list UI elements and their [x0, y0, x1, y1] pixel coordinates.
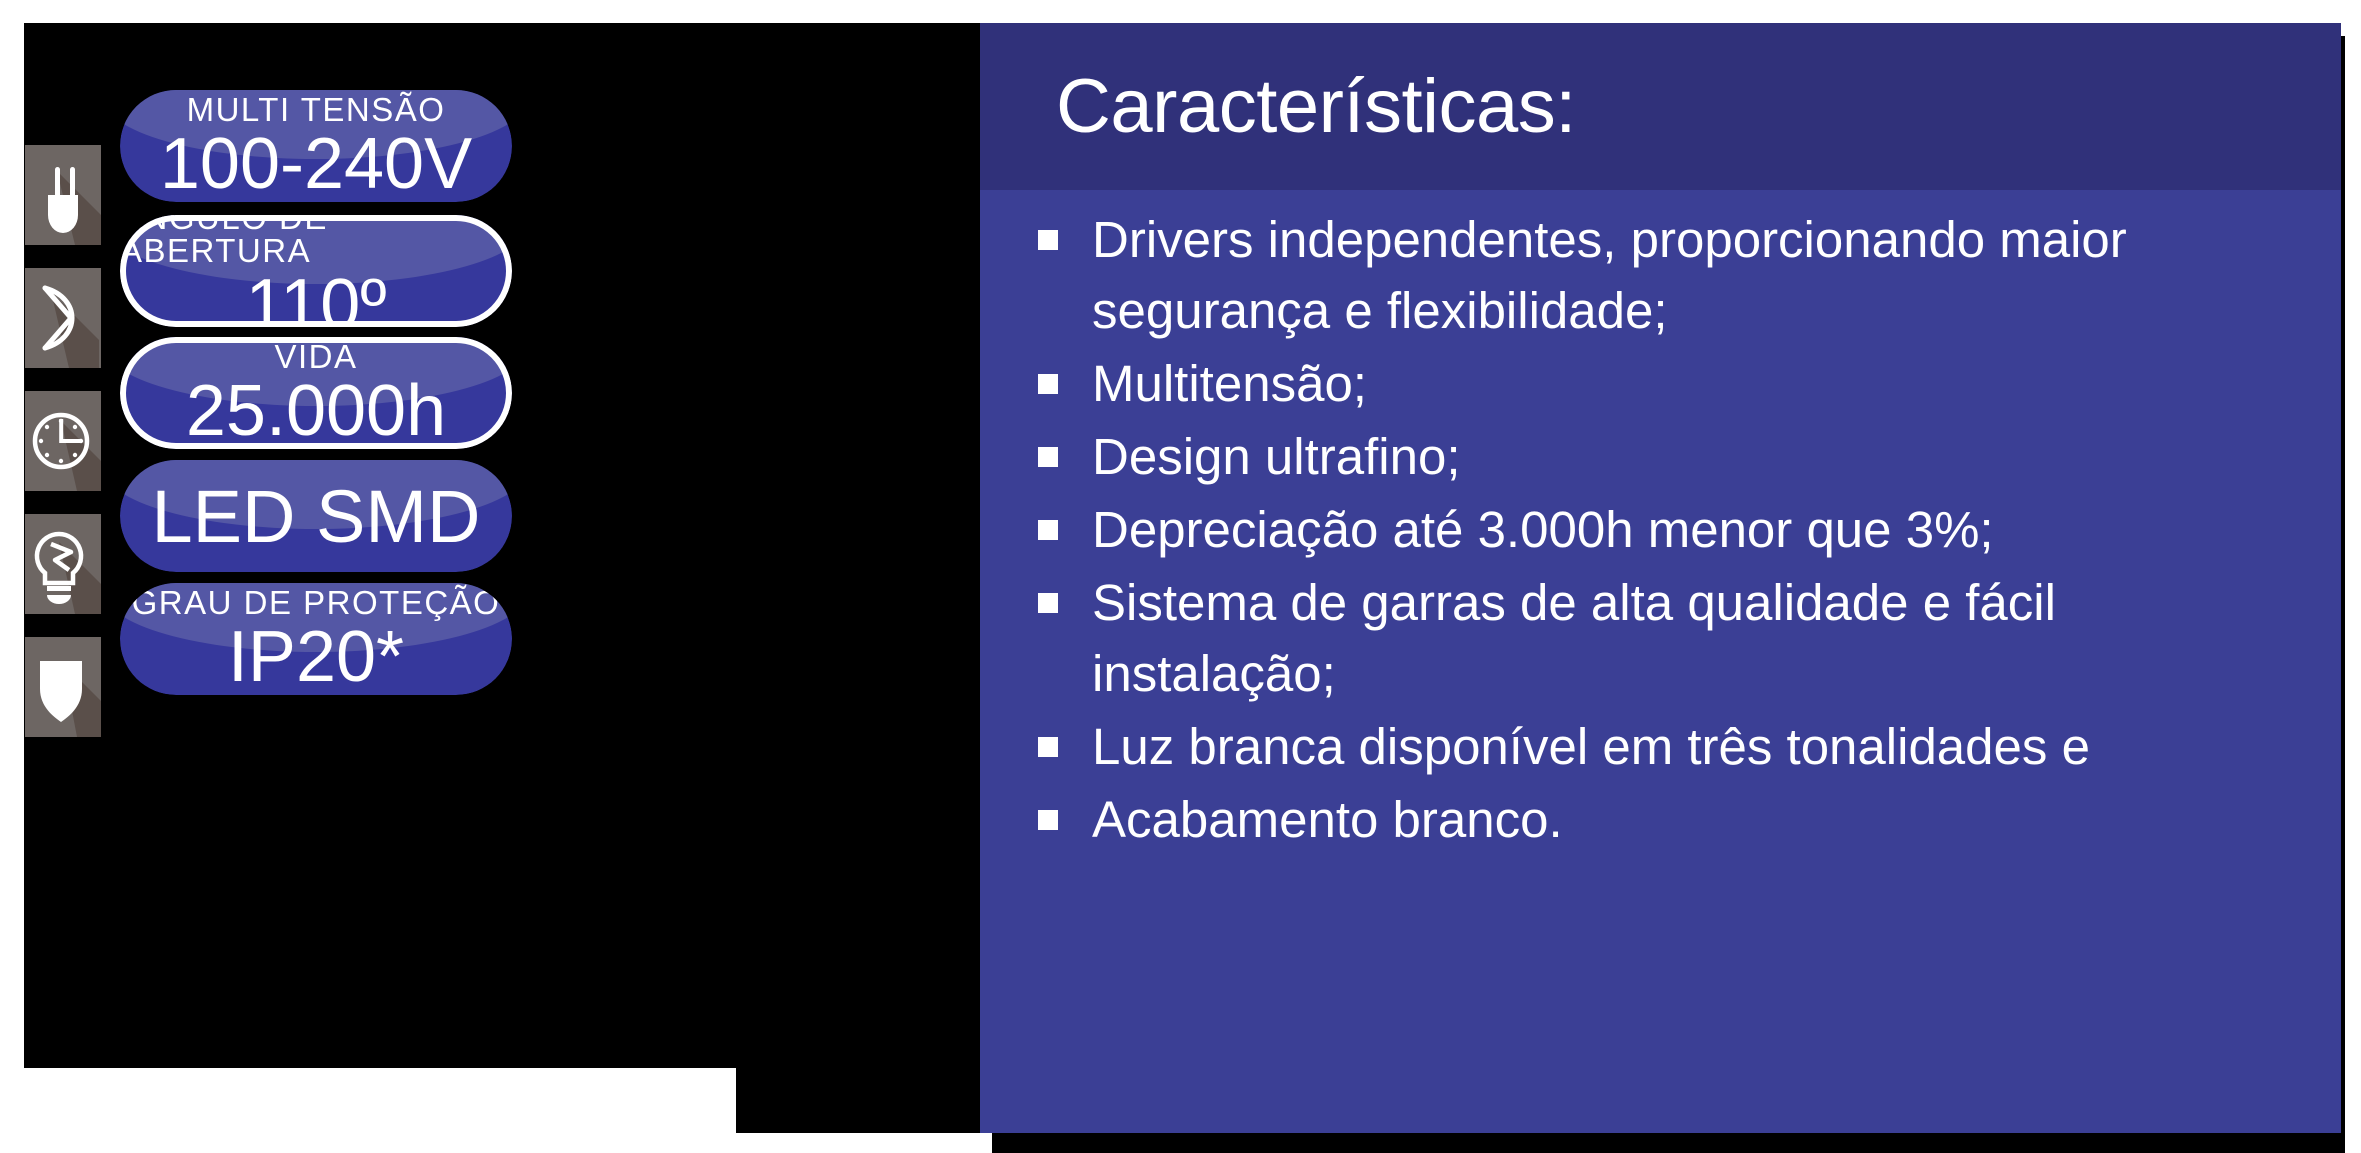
list-item: Design ultrafino;	[1024, 421, 2301, 492]
list-item-label: Drivers independentes, proporcionando ma…	[1092, 204, 2301, 346]
list-item-label: Luz branca disponível em três tonalidade…	[1092, 711, 2301, 782]
pill-value: 110º	[245, 269, 386, 327]
clock-icon	[25, 391, 101, 491]
list-item: Acabamento branco.	[1024, 784, 2301, 855]
pill-value: IP20*	[228, 621, 404, 693]
pill-value: 25.000h	[186, 375, 446, 447]
pill-value: 100-240V	[160, 128, 472, 200]
list-item-label: Depreciação até 3.000h menor que 3%;	[1092, 494, 2301, 565]
list-item: Depreciação até 3.000h menor que 3%;	[1024, 494, 2301, 565]
panel-corner-notch	[10, 1068, 736, 1153]
list-item: Sistema de garras de alta qualidade e fá…	[1024, 567, 2301, 709]
feature-list: Drivers independentes, proporcionando ma…	[980, 190, 2341, 1133]
infographic-root: MULTI TENSÃO 100-240V ÂNGULO DE ABERTURA…	[0, 0, 2361, 1153]
bullet-icon	[1038, 593, 1058, 613]
bullet-icon	[1038, 520, 1058, 540]
list-item: Drivers independentes, proporcionando ma…	[1024, 204, 2301, 346]
spec-pill-multi-tensao: MULTI TENSÃO 100-240V	[120, 90, 512, 202]
list-item-label: Sistema de garras de alta qualidade e fá…	[1092, 567, 2301, 709]
pill-caption: MULTI TENSÃO	[187, 93, 446, 126]
light-bulb-icon	[25, 514, 101, 614]
spec-pill-led-smd: LED SMD	[120, 460, 512, 572]
bullet-icon	[1038, 230, 1058, 250]
list-item: Luz branca disponível em três tonalidade…	[1024, 711, 2301, 782]
bullet-icon	[1038, 810, 1058, 830]
pill-text: LED SMD	[120, 460, 512, 572]
pill-value: LED SMD	[152, 480, 481, 554]
pill-text: MULTI TENSÃO 100-240V	[120, 90, 512, 202]
shield-icon	[25, 637, 101, 737]
pill-text: ÂNGULO DE ABERTURA 110º	[120, 215, 512, 327]
pill-caption: ÂNGULO DE ABERTURA	[120, 215, 512, 267]
spec-pill-angulo: ÂNGULO DE ABERTURA 110º	[120, 215, 512, 327]
page-title: Características:	[980, 23, 2341, 190]
list-item-label: Multitensão;	[1092, 348, 2301, 419]
beam-angle-icon	[25, 268, 101, 368]
list-item-label: Design ultrafino;	[1092, 421, 2301, 492]
list-item-label: Acabamento branco.	[1092, 784, 2301, 855]
list-item: Multitensão;	[1024, 348, 2301, 419]
spec-pill-grau-protecao: GRAU DE PROTEÇÃO IP20*	[120, 583, 512, 695]
pill-text: VIDA 25.000h	[120, 337, 512, 449]
bullet-icon	[1038, 374, 1058, 394]
pill-caption: VIDA	[274, 340, 357, 373]
features-panel: Características: Drivers independentes, …	[980, 23, 2341, 1133]
spec-pill-vida: VIDA 25.000h	[120, 337, 512, 449]
power-plug-icon	[25, 145, 101, 245]
bullet-icon	[1038, 737, 1058, 757]
bullet-icon	[1038, 447, 1058, 467]
pill-caption: GRAU DE PROTEÇÃO	[132, 586, 501, 619]
pill-text: GRAU DE PROTEÇÃO IP20*	[120, 583, 512, 695]
